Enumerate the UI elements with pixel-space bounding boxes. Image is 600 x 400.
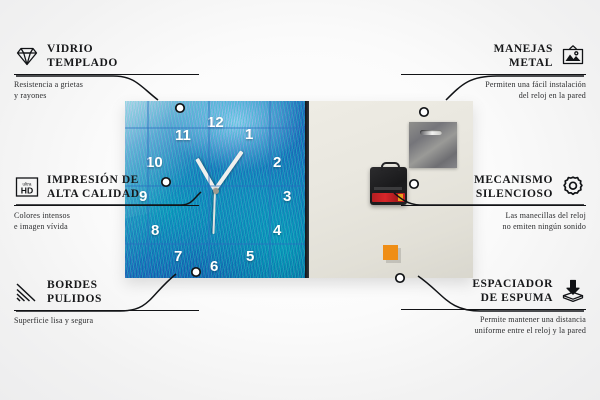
feature-desc-line1: Permite mantener una distancia — [480, 315, 586, 324]
feature-title-line2: ALTA CALIDAD — [47, 188, 140, 200]
feature-title-line2: TEMPLADO — [47, 57, 118, 69]
feature-manejas-metal[interactable]: MANEJAS METAL Permiten una fácil instala… — [401, 42, 586, 102]
feature-title-line1: ESPACIADOR — [472, 278, 553, 290]
feature-title-line1: VIDRIO — [47, 43, 93, 55]
mechanism-strip — [374, 187, 402, 190]
ultra-hd-icon: ultra HD — [14, 174, 40, 200]
feature-impresion-alta-calidad[interactable]: ultra HD IMPRESIÓN DE ALTA CALIDAD Color… — [14, 173, 199, 233]
clock-number-2: 2 — [273, 155, 281, 170]
feature-desc-line1: Colores intensos — [14, 211, 70, 220]
feature-vidrio-templado[interactable]: VIDRIO TEMPLADO Resistencia a grietas y … — [14, 42, 199, 102]
feature-mecanismo-silencioso[interactable]: MECANISMO SILENCIOSO Las manecillas del … — [401, 173, 586, 233]
clock-number-7: 7 — [174, 249, 182, 264]
clock-number-6: 6 — [210, 259, 218, 274]
polished-edge-lines-icon — [14, 279, 40, 305]
clock-number-12: 12 — [207, 115, 224, 130]
feature-title-line1: BORDES — [47, 279, 98, 291]
feature-title-line1: IMPRESIÓN DE — [47, 174, 139, 186]
feature-desc-line1: Resistencia a grietas — [14, 80, 83, 89]
feature-desc-line2: no emiten ningún sonido — [503, 222, 586, 231]
arrow-down-onto-pad-icon — [560, 278, 586, 304]
clock-number-11: 11 — [175, 128, 191, 143]
feature-divider — [401, 205, 586, 206]
feature-title-line2: PULIDOS — [47, 293, 102, 305]
feature-bordes-pulidos[interactable]: BORDES PULIDOS Superficie lisa y segura — [14, 278, 199, 326]
feature-title-line2: METAL — [509, 57, 553, 69]
foam-spacer — [383, 245, 398, 260]
clock-number-10: 10 — [146, 155, 163, 170]
feature-divider — [14, 74, 199, 75]
clock-number-1: 1 — [245, 127, 253, 142]
infographic-canvas: 12 1 2 3 4 5 6 7 8 9 10 11 — [0, 0, 600, 400]
feature-espaciador-de-espuma[interactable]: ESPACIADOR DE ESPUMA Permite mantener un… — [401, 277, 586, 337]
feature-divider — [14, 310, 199, 311]
feature-desc-line2: uniforme entre el reloj y la pared — [475, 326, 586, 335]
feature-divider — [401, 309, 586, 310]
clock-center-cap — [213, 188, 219, 194]
feature-title-line2: SILENCIOSO — [476, 188, 553, 200]
hanging-picture-frame-icon — [560, 43, 586, 69]
metal-hanger-plate — [409, 122, 457, 168]
clock-second-hand — [213, 190, 216, 234]
mechanism-hook — [381, 162, 400, 171]
feature-title-line2: DE ESPUMA — [481, 292, 553, 304]
feature-desc-line2: del reloj en la pared — [519, 91, 586, 100]
clock-number-3: 3 — [283, 189, 291, 204]
clock-number-5: 5 — [246, 249, 254, 264]
gear-icon — [560, 174, 586, 200]
clock-number-4: 4 — [273, 223, 281, 238]
feature-title-line1: MANEJAS — [494, 43, 553, 55]
hanger-slot — [420, 130, 442, 135]
feature-desc-line1: Superficie lisa y segura — [14, 316, 93, 325]
svg-text:HD: HD — [21, 186, 33, 196]
feature-desc-line1: Las manecillas del reloj — [505, 211, 586, 220]
feature-divider — [401, 74, 586, 75]
feature-desc-line2: e imagen vívida — [14, 222, 68, 231]
feature-divider — [14, 205, 199, 206]
feature-desc-line2: y rayones — [14, 91, 47, 100]
diamond-icon — [14, 43, 40, 69]
feature-desc-line1: Permiten una fácil instalación — [485, 80, 586, 89]
feature-title-line1: MECANISMO — [474, 174, 553, 186]
